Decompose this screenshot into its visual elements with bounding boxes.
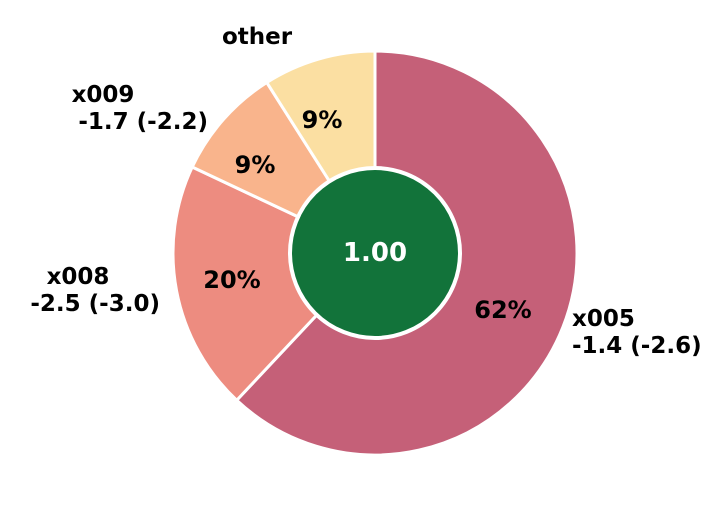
category-label-other: other [222, 24, 292, 51]
category-label-x008-line1: x008 [0, 264, 160, 291]
percent-label-x009: 9% [235, 151, 276, 179]
percent-label-other: 9% [302, 106, 343, 134]
category-label-x008-line2: -2.5 (-3.0) [0, 291, 160, 318]
donut-chart-svg: 62% 20% 9% 9% 1.00 [0, 0, 720, 515]
category-label-x008: x008 -2.5 (-3.0) [0, 264, 160, 318]
category-label-other-line1: other [222, 24, 292, 51]
category-label-x005-line1: x005 [572, 306, 702, 333]
category-label-x009-line1: x009 [4, 82, 208, 109]
category-label-x009: x009 -1.7 (-2.2) [4, 82, 208, 136]
category-label-x009-line2: -1.7 (-2.2) [4, 109, 208, 136]
category-label-x005-line2: -1.4 (-2.6) [572, 333, 702, 360]
center-value-label: 1.00 [343, 238, 407, 268]
percent-label-x008: 20% [203, 266, 260, 294]
category-label-x005: x005 -1.4 (-2.6) [572, 306, 702, 360]
pie-chart: 62% 20% 9% 9% 1.00 other x009 -1.7 (-2.2… [0, 0, 720, 515]
percent-label-x005: 62% [474, 296, 531, 324]
